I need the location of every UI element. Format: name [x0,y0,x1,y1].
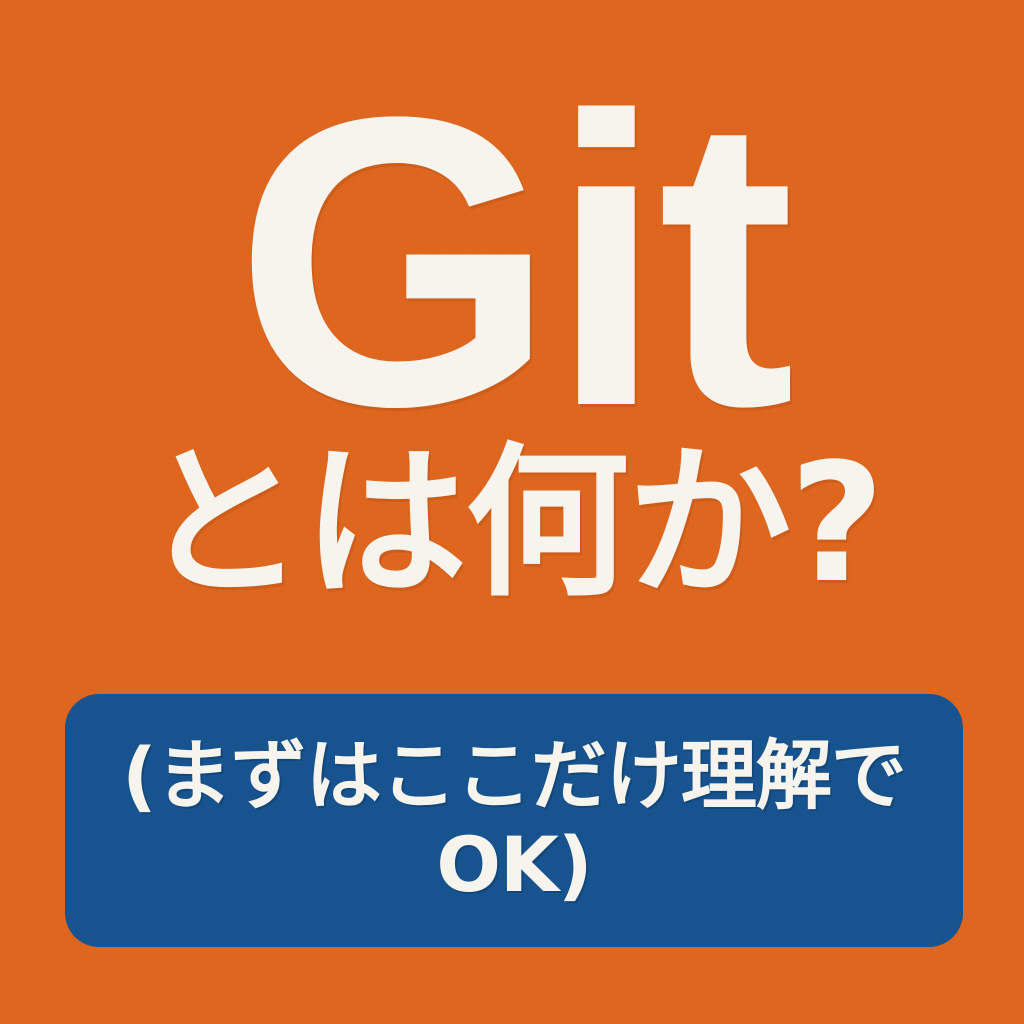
subtitle-question: とは何か? [0,442,1024,606]
title-card: Git とは何か? (まずはここだけ理解でOK) [0,0,1024,1024]
callout-text: (まずはここだけ理解でOK) [104,732,924,908]
callout-box: (まずはここだけ理解でOK) [65,694,963,947]
headline-title: Git [0,56,1024,468]
